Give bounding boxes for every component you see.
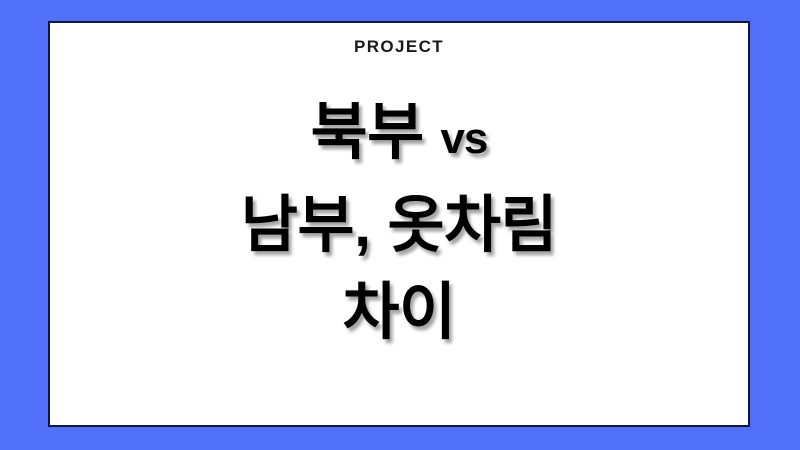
title-line-3: 차이 (50, 269, 748, 356)
slide-canvas: PROJECT 북부 vs 남부, 옷차림 차이 (0, 0, 800, 450)
title-line-2: 남부, 옷차림 (50, 182, 748, 269)
title-line-1: 북부 vs (50, 89, 748, 182)
eyebrow-label: PROJECT (354, 37, 444, 57)
title-vs-label: vs (440, 114, 487, 163)
title-line-1-korean: 북부 (311, 98, 424, 167)
title-block: 북부 vs 남부, 옷차림 차이 (50, 89, 748, 356)
content-card: PROJECT 북부 vs 남부, 옷차림 차이 (48, 21, 750, 427)
